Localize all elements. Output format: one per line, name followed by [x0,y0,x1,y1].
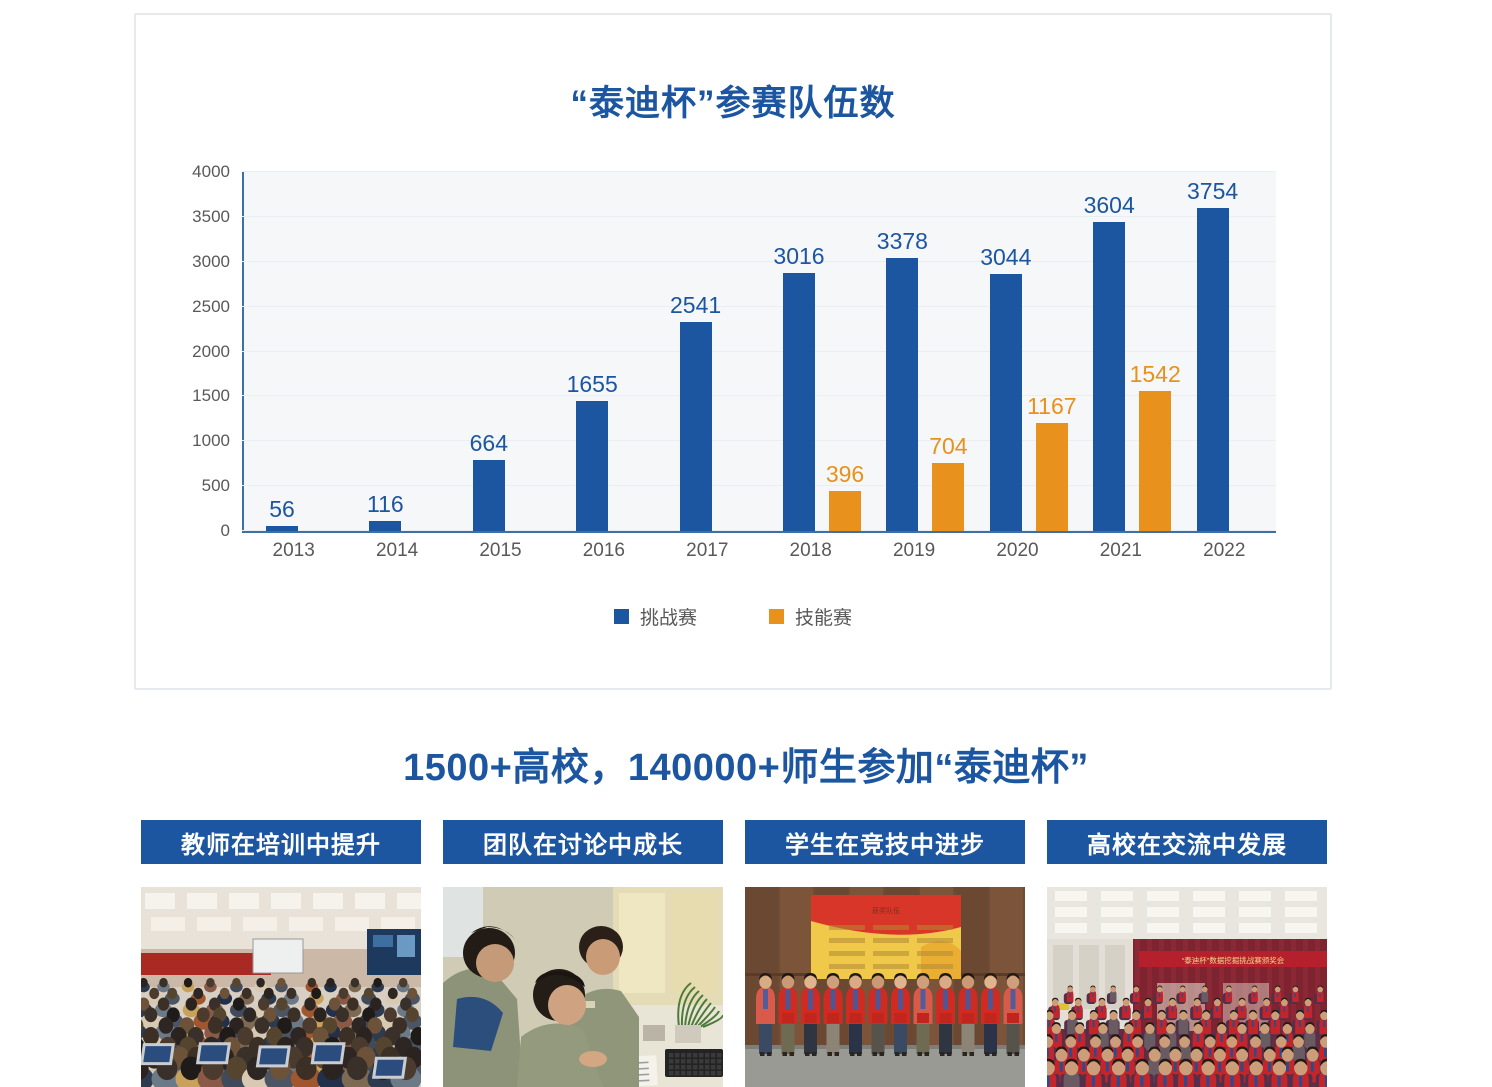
award-ceremony-stage-photo: 获奖队伍 [745,887,1025,1087]
x-tick-label: 2021 [1069,540,1172,562]
x-tick-label: 2015 [449,540,552,562]
bar-value-label: 1167 [1027,395,1076,418]
x-tick-label: 2019 [862,540,965,562]
legend-label: 技能赛 [795,603,852,630]
auditorium-audience-photo: “泰迪杯”数据挖掘挑战赛颁奖会 [1047,887,1327,1087]
bar-challenge: 3044 [990,274,1022,531]
bar-challenge: 3016 [783,273,815,531]
bar-category-group: 116 [347,172,450,531]
bar-value-label: 704 [929,435,967,458]
bar-value-label: 116 [367,493,404,516]
bar-challenge: 3378 [886,258,918,531]
svg-text:获奖队伍: 获奖队伍 [872,906,900,915]
photo-card-caption: 团队在讨论中成长 [443,820,723,864]
slide-page: “泰迪杯”参赛队伍数 05001000150020002500300035004… [0,0,1492,1087]
y-tick-label: 3500 [110,207,230,227]
bar-challenge: 56 [266,526,298,531]
bar-value-label: 2541 [670,294,721,317]
bar-value-label: 3378 [877,230,928,253]
bar-skill: 396 [829,491,861,531]
x-tick-label: 2022 [1173,540,1276,562]
bar-challenge: 116 [369,521,401,531]
y-tick-label: 1000 [110,431,230,451]
bar-skill: 1167 [1036,423,1068,531]
conference-training-room-photo [141,887,421,1087]
bar-challenge: 664 [473,460,505,531]
bar-group: 5611666416552541301639633787043044116736… [244,172,1276,531]
x-tick-label: 2016 [552,540,655,562]
legend-item[interactable]: 技能赛 [769,603,852,630]
x-tick-label: 2018 [759,540,862,562]
x-axis-labels: 2013201420152016201720182019202020212022 [242,540,1276,570]
bar-value-label: 3016 [773,245,824,268]
bar-value-label: 3604 [1084,194,1135,217]
bar-value-label: 3754 [1187,180,1238,203]
x-tick-label: 2017 [656,540,759,562]
y-tick-label: 2500 [110,297,230,317]
bar-skill: 1542 [1139,391,1171,531]
photo-card-caption: 学生在竞技中进步 [745,820,1025,864]
bar-challenge: 1655 [576,401,608,531]
bar-challenge: 3754 [1197,208,1229,531]
bar-category-group: 3016396 [761,172,864,531]
photo-card-caption: 教师在培训中提升 [141,820,421,864]
bar-challenge: 2541 [680,322,712,531]
photo-card: 学生在竞技中进步获奖队伍 [745,820,1025,1087]
bar-category-group: 1655 [554,172,657,531]
bar-category-group: 3378704 [864,172,967,531]
bar-category-group: 664 [451,172,554,531]
bar-value-label: 396 [826,463,864,486]
legend-swatch-icon [614,609,629,624]
bar-category-group: 2541 [658,172,761,531]
chart-legend: 挑战赛技能赛 [136,603,1330,630]
y-tick-label: 2000 [110,342,230,362]
headline-text: 1500+高校，140000+师生参加“泰迪杯” [0,736,1492,791]
x-tick-label: 2014 [345,540,448,562]
legend-label: 挑战赛 [640,603,697,630]
y-tick-label: 500 [110,476,230,496]
bar-value-label: 1655 [567,373,618,396]
chart-card: “泰迪杯”参赛队伍数 05001000150020002500300035004… [134,13,1332,690]
bar-category-group: 30441167 [968,172,1071,531]
photo-card-row: 教师在培训中提升团队在讨论中成长学生在竞技中进步获奖队伍高校在交流中发展“泰迪杯… [141,820,1329,1087]
x-tick-label: 2013 [242,540,345,562]
photo-card: 教师在培训中提升 [141,820,421,1087]
bar-category-group: 3754 [1175,172,1278,531]
legend-swatch-icon [769,609,784,624]
bar-skill: 704 [932,463,964,531]
bar-category-group: 36041542 [1071,172,1174,531]
y-tick-label: 4000 [110,162,230,182]
x-tick-label: 2020 [966,540,1069,562]
y-tick-label: 1500 [110,386,230,406]
bar-value-label: 1542 [1130,363,1181,386]
svg-text:“泰迪杯”数据挖掘挑战赛颁奖会: “泰迪杯”数据挖掘挑战赛颁奖会 [1182,955,1285,965]
photo-card: 团队在讨论中成长 [443,820,723,1087]
photo-card: 高校在交流中发展“泰迪杯”数据挖掘挑战赛颁奖会 [1047,820,1327,1087]
bar-challenge: 3604 [1093,222,1125,531]
bar-value-label: 56 [269,498,295,521]
chart-title: “泰迪杯”参赛队伍数 [136,75,1330,126]
bar-category-group: 56 [244,172,347,531]
photo-card-caption: 高校在交流中发展 [1047,820,1327,864]
legend-item[interactable]: 挑战赛 [614,603,697,630]
bar-value-label: 3044 [980,246,1031,269]
chart-plot: 05001000150020002500300035004000 5611666… [242,172,1276,533]
bar-value-label: 664 [470,432,508,455]
y-tick-label: 3000 [110,252,230,272]
y-tick-label: 0 [110,521,230,541]
team-discussion-desk-photo [443,887,723,1087]
